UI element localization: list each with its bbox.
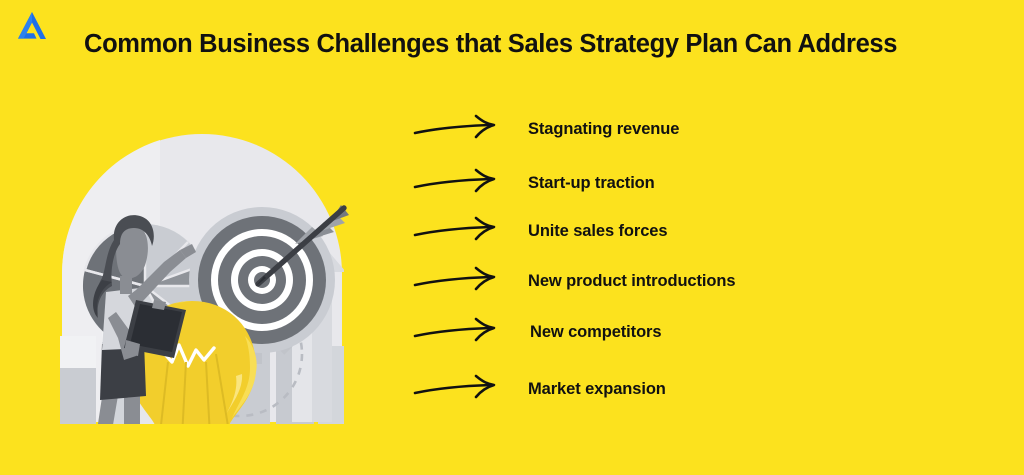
hand-drawn-right-arrow-icon [412,168,508,198]
slide-canvas: Common Business Challenges that Sales St… [0,0,1024,475]
page-title: Common Business Challenges that Sales St… [84,30,964,59]
list-item-label: Market expansion [528,380,666,399]
business-strategy-illustration [40,104,365,424]
list-item[interactable]: Stagnating revenue [412,112,1012,146]
hand-drawn-right-arrow-icon [412,374,508,404]
list-item-label: Stagnating revenue [528,120,679,139]
mountain-logo[interactable] [12,9,52,45]
list-item-label: New product introductions [528,272,735,291]
list-item[interactable]: Market expansion [412,372,1012,406]
hand-drawn-right-arrow-icon [412,114,508,144]
mountain-logo-icon [12,9,52,45]
list-item[interactable]: Start-up traction [412,166,1012,200]
list-item[interactable]: Unite sales forces [412,214,1012,248]
list-item-label: New competitors [530,323,661,342]
list-item[interactable]: New competitors [412,315,1012,349]
hand-drawn-right-arrow-icon [412,216,508,246]
challenges-list: Stagnating revenue Start-up traction Uni… [412,104,1012,414]
hand-drawn-right-arrow-icon [412,317,508,347]
list-item-label: Start-up traction [528,174,655,193]
hand-drawn-right-arrow-icon [412,266,508,296]
list-item[interactable]: New product introductions [412,264,1012,298]
list-item-label: Unite sales forces [528,222,667,241]
